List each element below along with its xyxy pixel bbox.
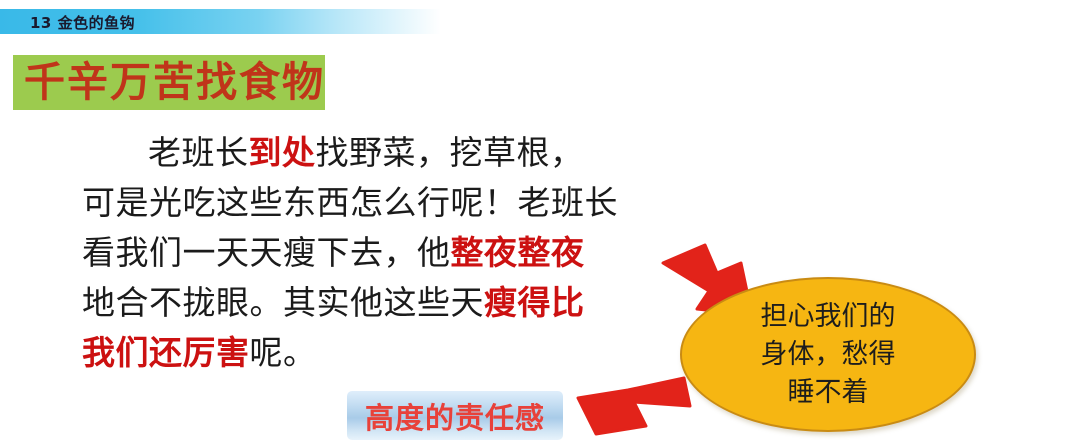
header-band-top-strip xyxy=(0,0,560,9)
passage-segment: 可是光吃这些东西怎么行呢！老班长 xyxy=(82,183,618,222)
oval-callout-line: 身体，愁得 xyxy=(761,336,896,374)
passage-line-4: 地合不拢眼。其实他这些天瘦得比 xyxy=(82,278,682,328)
passage-segment: 地合不拢眼。其实他这些天 xyxy=(82,283,484,322)
blue-label-text: 高度的责任感 xyxy=(365,395,545,437)
blue-label-box: 高度的责任感 xyxy=(347,391,563,440)
passage-line-3: 看我们一天天瘦下去，他整夜整夜 xyxy=(82,228,682,278)
passage-segment: 呢。 xyxy=(250,333,317,372)
arrow-to-blue-label-icon xyxy=(572,372,692,444)
passage-segment-emphasis: 到处 xyxy=(249,133,316,172)
passage-segment: 找野菜，挖草根， xyxy=(316,133,584,172)
oval-callout-line: 睡不着 xyxy=(788,374,869,412)
passage-segment: 看我们一天天瘦下去，他 xyxy=(82,233,451,272)
passage-segment-emphasis: 瘦得比 xyxy=(484,283,585,322)
passage-line-1: 老班长到处找野菜，挖草根， xyxy=(82,128,682,178)
passage-line-5: 我们还厉害呢。 xyxy=(82,328,682,378)
passage-segment-emphasis: 整夜整夜 xyxy=(451,233,585,272)
section-title: 千辛万苦找食物 xyxy=(24,57,324,108)
passage-line-2: 可是光吃这些东西怎么行呢！老班长 xyxy=(82,178,682,228)
slide-canvas: 13 金色的鱼钩 千辛万苦找食物 老班长到处找野菜，挖草根， 可是光吃这些东西怎… xyxy=(0,0,1080,448)
passage-text: 老班长到处找野菜，挖草根， 可是光吃这些东西怎么行呢！老班长 看我们一天天瘦下去… xyxy=(82,128,682,378)
passage-segment: 老班长 xyxy=(148,133,249,172)
lesson-header-title: 13 金色的鱼钩 xyxy=(30,12,135,33)
oval-callout: 担心我们的 身体，愁得 睡不着 xyxy=(680,277,976,432)
oval-callout-line: 担心我们的 xyxy=(761,298,896,336)
passage-segment-emphasis: 我们还厉害 xyxy=(82,333,250,372)
